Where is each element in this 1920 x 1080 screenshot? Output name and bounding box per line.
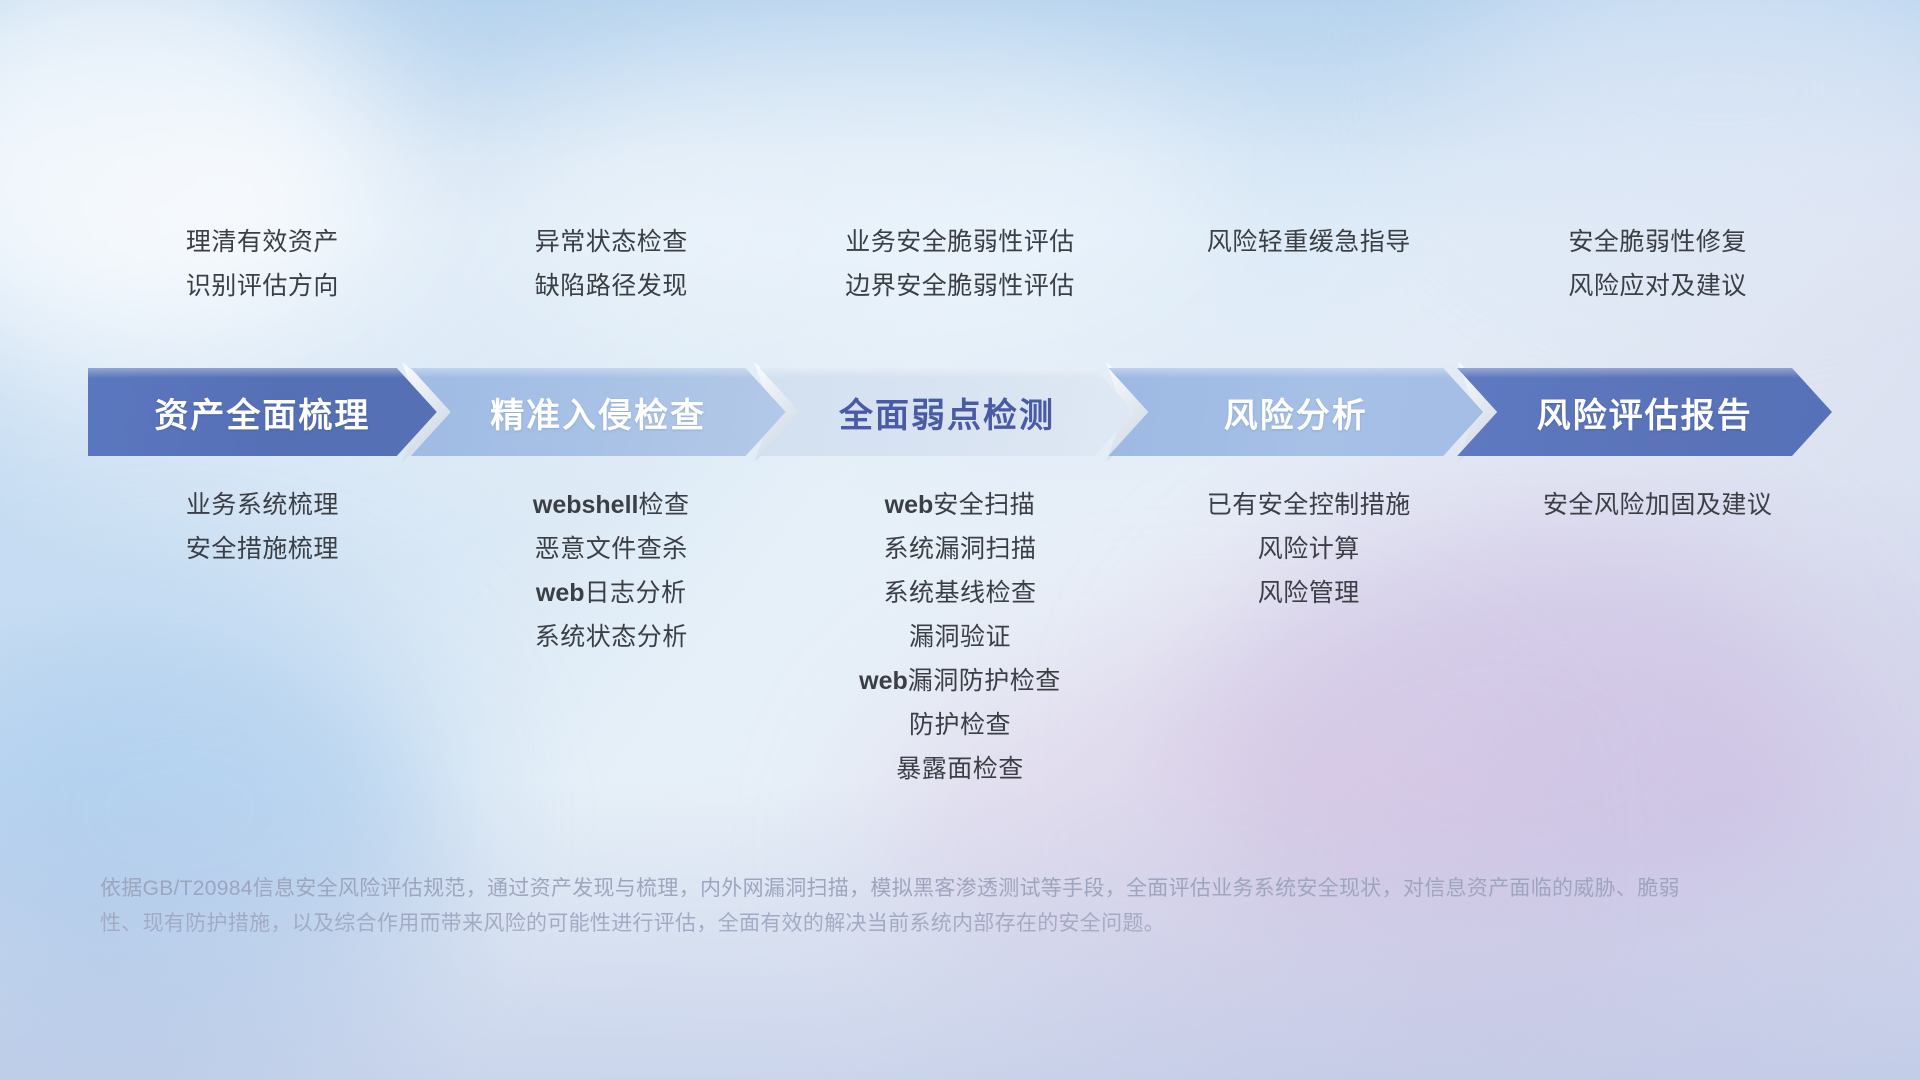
process-step-label: 精准入侵检查 (490, 388, 706, 437)
bottom-annotation-column-intrusion-check: webshell检查恶意文件查杀web日志分析系统状态分析 (437, 490, 786, 652)
bottom-annotation-line: 系统状态分析 (535, 622, 688, 652)
bottom-annotation-text: 风险管理 (1258, 579, 1360, 607)
process-step-risk-report[interactable]: 风险评估报告 (1457, 368, 1832, 456)
bottom-annotation-text: 已有安全控制措施 (1207, 491, 1411, 519)
bottom-annotation-line: web日志分析 (536, 578, 687, 608)
process-step-risk-analysis[interactable]: 风险分析 (1108, 368, 1483, 456)
bottom-annotation-column-weakness-detection: web安全扫描系统漏洞扫描系统基线检查漏洞验证web漏洞防护检查防护检查暴露面检… (786, 490, 1135, 784)
bottom-annotation-text: 系统漏洞扫描 (883, 535, 1036, 563)
bottom-annotation-text: 系统状态分析 (535, 623, 688, 651)
process-step-weakness-detection[interactable]: 全面弱点检测 (760, 368, 1135, 456)
top-annotation-column-intrusion-check: 异常状态检查缺陷路径发现 (437, 228, 786, 301)
process-banner: 资产全面梳理精准入侵检查全面弱点检测风险分析风险评估报告 (88, 368, 1832, 456)
bottom-annotation-line: 业务系统梳理 (186, 490, 339, 520)
bottom-annotation-line: 防护检查 (909, 710, 1011, 740)
bottom-annotation-line: 漏洞验证 (909, 622, 1011, 652)
bottom-annotation-line: 恶意文件查杀 (535, 534, 688, 564)
top-annotation-line: 异常状态检查 (535, 228, 688, 258)
footer-description: 依据GB/T20984信息安全风险评估规范，通过资产发现与梳理，内外网漏洞扫描，… (100, 872, 1680, 941)
bottom-annotation-text: 风险计算 (1258, 535, 1360, 563)
top-annotation-line: 风险应对及建议 (1568, 272, 1747, 302)
process-step-label: 风险评估报告 (1537, 388, 1753, 437)
diagram-content: 理清有效资产识别评估方向异常状态检查缺陷路径发现业务安全脆弱性评估边界安全脆弱性… (0, 0, 1920, 1080)
process-step-intrusion-check[interactable]: 精准入侵检查 (411, 368, 786, 456)
bottom-annotation-line: 暴露面检查 (896, 754, 1024, 784)
bottom-annotation-text: 日志分析 (585, 579, 687, 607)
bottom-annotation-line: 系统基线检查 (883, 578, 1036, 608)
process-step-label: 风险分析 (1224, 388, 1368, 437)
bottom-annotation-line: web漏洞防护检查 (859, 666, 1061, 696)
top-annotation-column-asset-inventory: 理清有效资产识别评估方向 (88, 228, 437, 301)
bottom-annotation-latin: web (885, 491, 934, 519)
bottom-annotation-latin: web (859, 667, 908, 695)
bottom-annotation-text: 漏洞验证 (909, 623, 1011, 651)
top-annotation-line: 识别评估方向 (186, 272, 339, 302)
bottom-annotation-line: 系统漏洞扫描 (883, 534, 1036, 564)
top-annotation-line: 边界安全脆弱性评估 (845, 272, 1075, 302)
bottom-annotation-text: 系统基线检查 (883, 579, 1036, 607)
top-annotation-line: 理清有效资产 (186, 228, 339, 258)
process-step-label: 全面弱点检测 (839, 388, 1055, 437)
bottom-annotation-text: 检查 (638, 491, 689, 519)
bottom-annotation-latin: webshell (533, 491, 639, 519)
process-steps: 资产全面梳理精准入侵检查全面弱点检测风险分析风险评估报告 (88, 368, 1832, 456)
bottom-annotation-line: 已有安全控制措施 (1207, 490, 1411, 520)
bottom-annotation-text: 恶意文件查杀 (535, 535, 688, 563)
bottom-annotation-line: web安全扫描 (885, 490, 1036, 520)
bottom-annotation-line: 风险管理 (1258, 578, 1360, 608)
top-annotation-column-weakness-detection: 业务安全脆弱性评估边界安全脆弱性评估 (786, 228, 1135, 301)
bottom-annotation-latin: web (536, 579, 585, 607)
bottom-annotation-text: 业务系统梳理 (186, 491, 339, 519)
top-annotation-line: 缺陷路径发现 (535, 272, 688, 302)
process-step-asset-inventory[interactable]: 资产全面梳理 (88, 368, 437, 456)
bottom-annotation-text: 安全风险加固及建议 (1543, 491, 1773, 519)
bottom-annotation-line: 安全风险加固及建议 (1543, 490, 1773, 520)
process-step-label: 资产全面梳理 (154, 388, 370, 437)
bottom-annotation-text: 漏洞防护检查 (908, 667, 1061, 695)
bottom-annotation-column-risk-report: 安全风险加固及建议 (1483, 490, 1832, 520)
bottom-annotation-line: 风险计算 (1258, 534, 1360, 564)
bottom-annotation-text: 防护检查 (909, 711, 1011, 739)
top-annotation-column-risk-analysis: 风险轻重缓急指导 (1134, 228, 1483, 301)
top-annotation-line: 业务安全脆弱性评估 (845, 228, 1075, 258)
bottom-annotation-text: 安全扫描 (933, 491, 1035, 519)
top-annotation-column-risk-report: 安全脆弱性修复风险应对及建议 (1483, 228, 1832, 301)
bottom-annotation-text: 安全措施梳理 (186, 535, 339, 563)
bottom-annotation-line: 安全措施梳理 (186, 534, 339, 564)
top-annotation-line: 安全脆弱性修复 (1568, 228, 1747, 258)
top-annotations-row: 理清有效资产识别评估方向异常状态检查缺陷路径发现业务安全脆弱性评估边界安全脆弱性… (88, 228, 1832, 301)
bottom-annotation-column-asset-inventory: 业务系统梳理安全措施梳理 (88, 490, 437, 564)
top-annotation-line: 风险轻重缓急指导 (1207, 228, 1411, 258)
bottom-annotations-row: 业务系统梳理安全措施梳理webshell检查恶意文件查杀web日志分析系统状态分… (88, 490, 1832, 784)
slide-canvas: 理清有效资产识别评估方向异常状态检查缺陷路径发现业务安全脆弱性评估边界安全脆弱性… (0, 0, 1920, 1080)
bottom-annotation-text: 暴露面检查 (896, 755, 1024, 783)
bottom-annotation-line: webshell检查 (533, 490, 690, 520)
bottom-annotation-column-risk-analysis: 已有安全控制措施风险计算风险管理 (1134, 490, 1483, 608)
